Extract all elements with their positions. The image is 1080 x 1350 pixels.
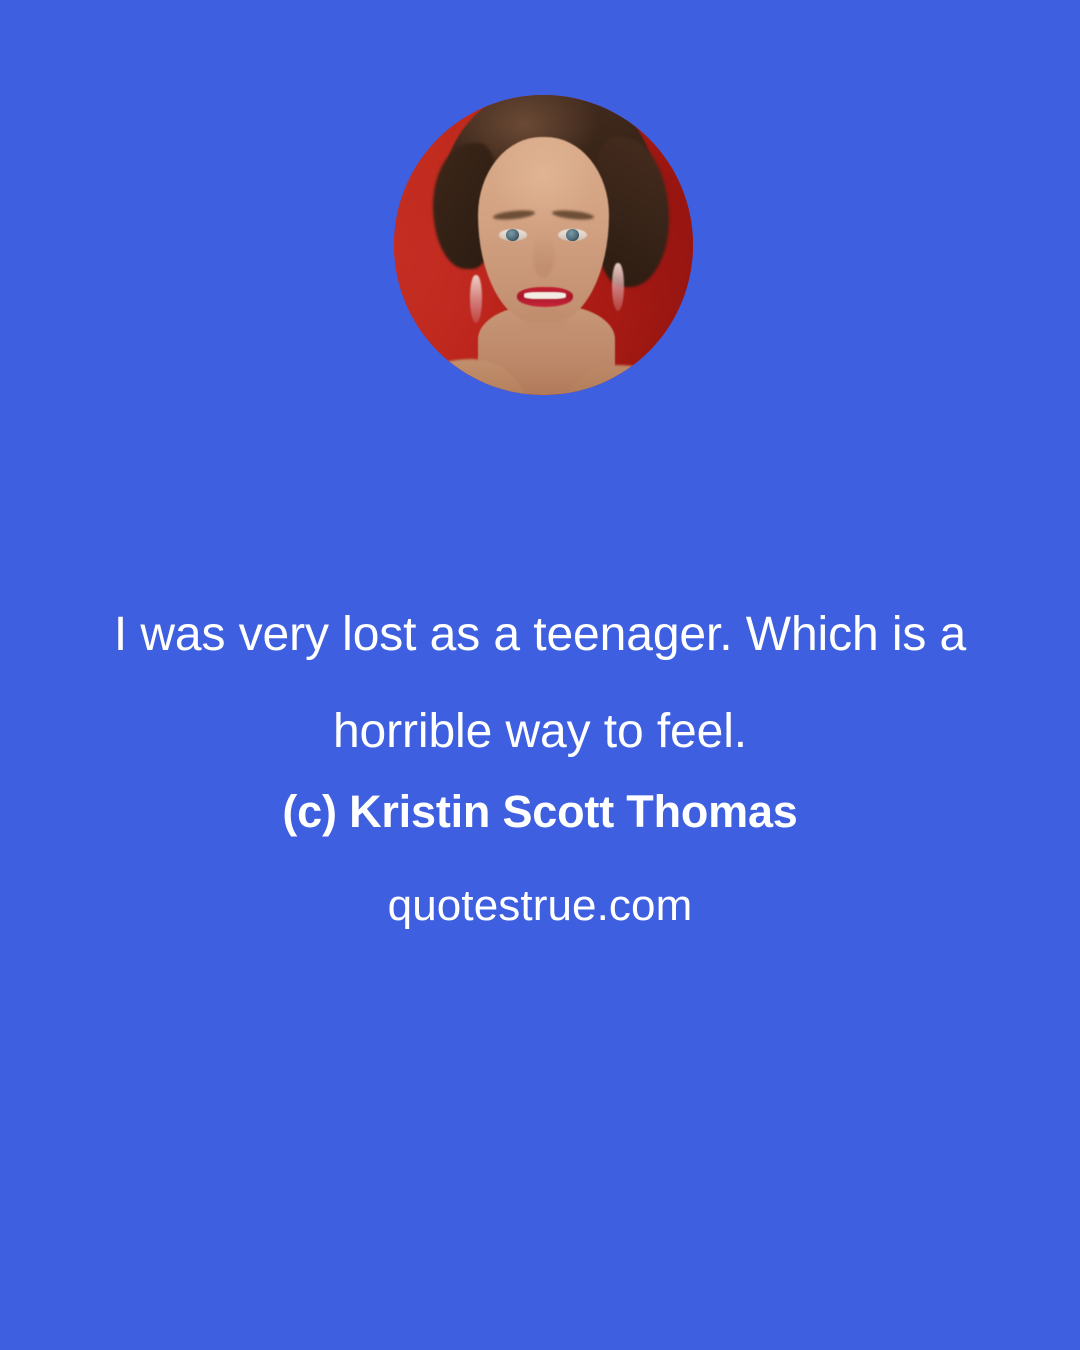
quote-text: I was very lost as a teenager. Which is … — [90, 586, 990, 780]
portrait-backdrop — [394, 95, 693, 395]
portrait-teeth — [524, 292, 566, 299]
portrait-chin — [523, 311, 568, 329]
portrait-earring-right — [612, 263, 624, 311]
portrait-iris-right — [566, 229, 579, 242]
quote-card: I was very lost as a teenager. Which is … — [0, 0, 1080, 1350]
portrait-nose — [533, 236, 554, 278]
source-website: quotestrue.com — [90, 878, 990, 934]
portrait-earring-left — [470, 275, 482, 323]
quote-attribution: (c) Kristin Scott Thomas — [90, 784, 990, 840]
author-portrait-avatar — [394, 95, 693, 395]
